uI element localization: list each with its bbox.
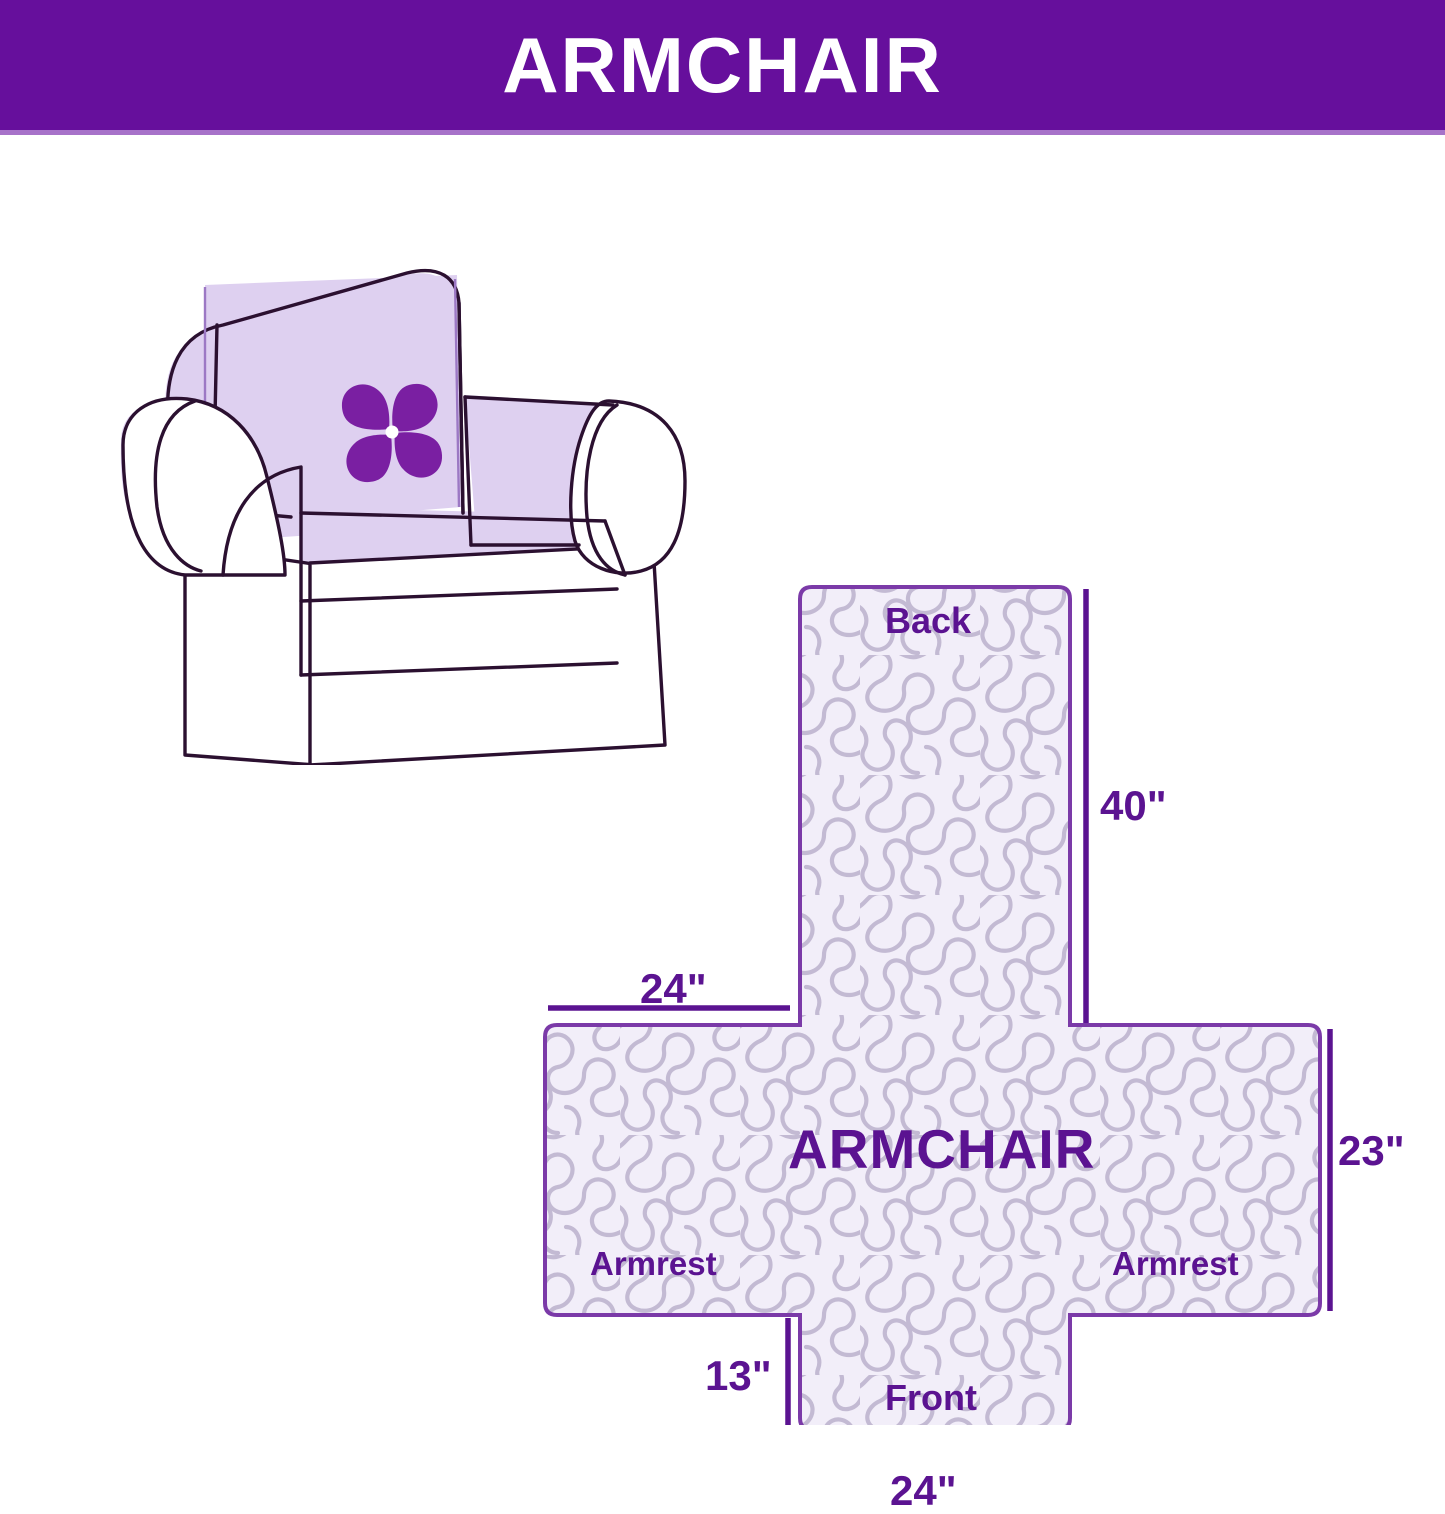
- slipcover-pattern-diagram: Back ARMCHAIR Armrest Armrest Front 40" …: [500, 415, 1445, 1425]
- section-label-armrest-right: Armrest: [1112, 1247, 1239, 1280]
- dimension-label-front-width: 24": [890, 1470, 957, 1512]
- dimension-label-armrest-width: 24": [640, 968, 707, 1010]
- page-title: ARMCHAIR: [502, 26, 943, 104]
- pattern-center-label: ARMCHAIR: [788, 1122, 1095, 1177]
- diagram-stage: .ol { fill:none; stroke:#2b1030; stroke-…: [0, 135, 1445, 1445]
- section-label-front: Front: [885, 1380, 977, 1416]
- dimension-label-back-height: 40": [1100, 785, 1167, 827]
- section-label-back: Back: [885, 603, 971, 639]
- header-banner: ARMCHAIR: [0, 0, 1445, 130]
- dimension-label-armrest-height: 23": [1338, 1130, 1405, 1172]
- dimension-label-front-height: 13": [705, 1355, 772, 1397]
- section-label-armrest-left: Armrest: [590, 1247, 717, 1280]
